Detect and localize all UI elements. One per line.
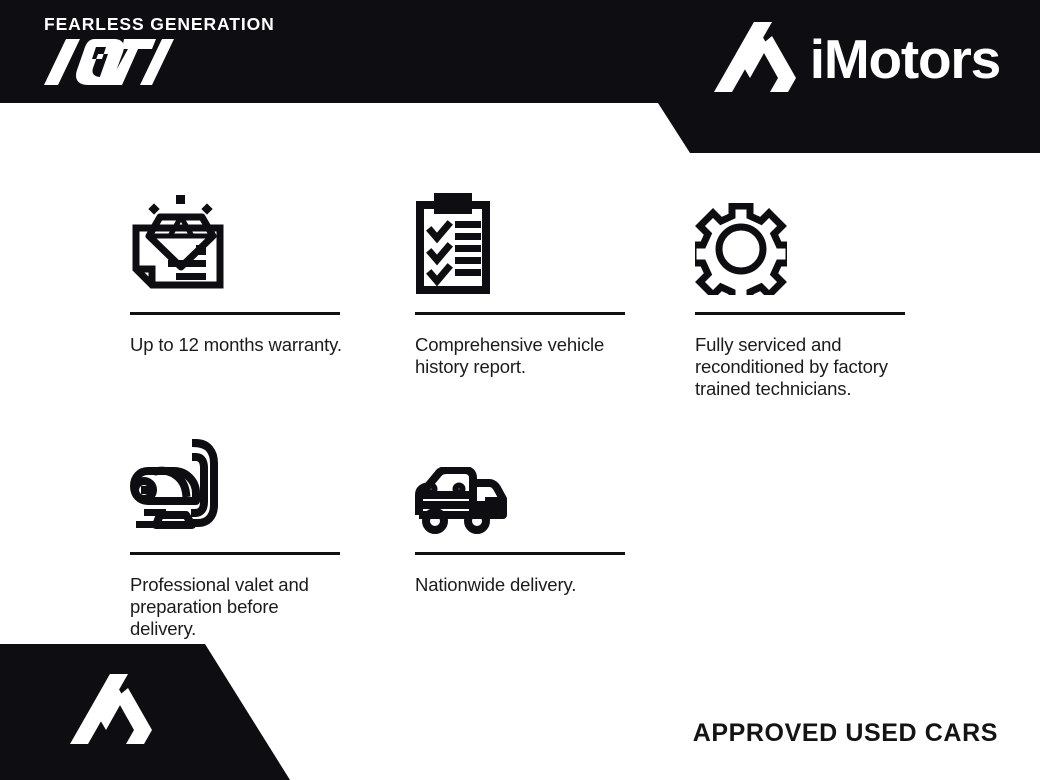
feature-divider bbox=[415, 312, 625, 315]
feature-divider bbox=[130, 552, 340, 555]
promo-graphic: FEARLESS GENERATION bbox=[0, 0, 1040, 780]
campaign-title: FEARLESS GENERATION bbox=[44, 16, 275, 34]
feature-item: Nationwide delivery. bbox=[415, 425, 627, 665]
vacuum-cleaner-icon bbox=[130, 425, 342, 535]
car-transporter-icon bbox=[415, 425, 627, 535]
brand-name: iMotors bbox=[810, 32, 1000, 87]
warranty-certificate-icon bbox=[130, 185, 342, 295]
feature-item: Up to 12 months warranty. bbox=[130, 185, 342, 425]
imotors-chevron-icon bbox=[714, 22, 796, 96]
feature-divider bbox=[695, 312, 905, 315]
feature-label: Nationwide delivery. bbox=[415, 574, 630, 596]
footer-tagline: APPROVED USED CARS bbox=[693, 721, 998, 746]
imotors-chevron-icon bbox=[70, 674, 152, 748]
feature-item: Fully serviced and reconditioned by fact… bbox=[695, 185, 907, 425]
feature-item: Comprehensive vehicle history report. bbox=[415, 185, 627, 425]
brand-lockup: iMotors bbox=[714, 22, 1000, 96]
campaign-badge: FEARLESS GENERATION bbox=[44, 16, 275, 90]
feature-grid: Up to 12 months warranty. bbox=[130, 185, 920, 666]
feature-label: Fully serviced and reconditioned by fact… bbox=[695, 334, 910, 399]
feature-label: Up to 12 months warranty. bbox=[130, 334, 345, 356]
clipboard-checklist-icon bbox=[415, 185, 627, 295]
feature-label: Comprehensive vehicle history report. bbox=[415, 334, 630, 378]
feature-placeholder bbox=[695, 425, 907, 665]
gear-icon bbox=[695, 185, 907, 295]
feature-item: Professional valet and preparation befor… bbox=[130, 425, 342, 665]
feature-divider bbox=[130, 312, 340, 315]
campaign-year-icon bbox=[44, 39, 174, 85]
feature-divider bbox=[415, 552, 625, 555]
feature-label: Professional valet and preparation befor… bbox=[130, 574, 345, 639]
